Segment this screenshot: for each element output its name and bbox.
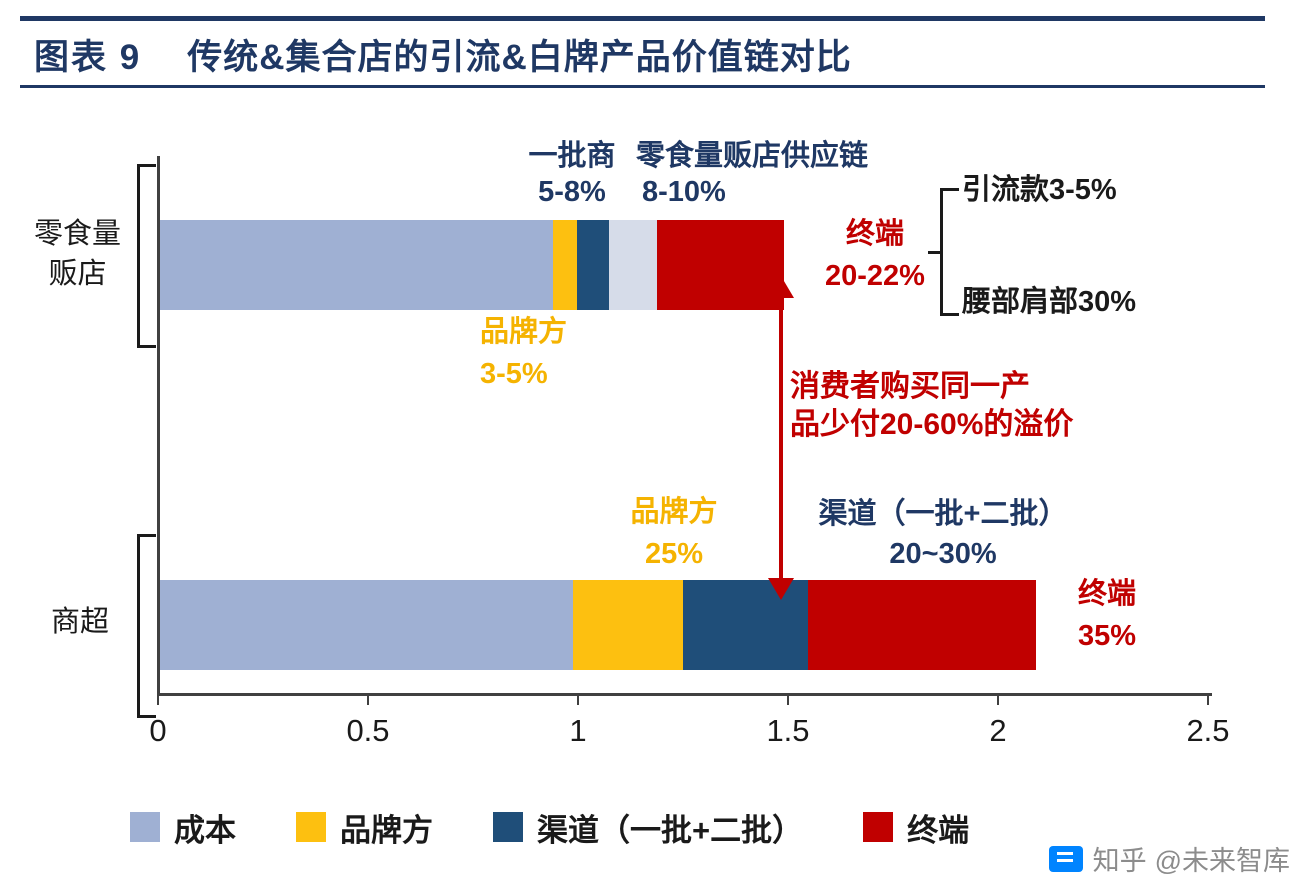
annotation-terminal-bottom-value: 35% bbox=[1052, 618, 1162, 654]
bar-bottom-segment-cost bbox=[157, 580, 573, 670]
annotation-traffic-sku: 引流款3-5% bbox=[962, 172, 1117, 208]
premium-arrow-line bbox=[779, 292, 783, 584]
legend-item-cost[interactable]: 成本 bbox=[130, 805, 236, 850]
x-tick-label-1: 1 bbox=[538, 713, 618, 749]
x-tick-label-0: 0 bbox=[118, 713, 198, 749]
header-rule-bottom bbox=[20, 85, 1265, 88]
annotation-channel-bottom: 渠道（一批+二批） 20~30% bbox=[798, 496, 1088, 573]
legend-label-brand: 品牌方 bbox=[340, 805, 433, 850]
annotation-terminal-top-label: 终端 bbox=[810, 216, 940, 252]
x-tick-0 bbox=[157, 693, 159, 705]
x-tick-label-2: 2 bbox=[958, 713, 1038, 749]
annotation-supply-chain-label: 零食量贩店供应链 bbox=[636, 138, 956, 174]
x-tick-label-15: 1.5 bbox=[748, 713, 828, 749]
figure-number: 图表 9 bbox=[34, 29, 141, 80]
watermark: 知乎 @未来智库 bbox=[1049, 839, 1290, 878]
bar-top-segment-wholesaler bbox=[577, 220, 609, 310]
bar-top-segment-supply-chain bbox=[609, 220, 657, 310]
legend-swatch-brand bbox=[296, 812, 326, 842]
bar-bottom-segment-brand bbox=[573, 580, 683, 670]
bar-top-segment-brand bbox=[553, 220, 577, 310]
annotation-premium-note: 消费者购买同一产 品少付20-60%的溢价 bbox=[790, 368, 1150, 443]
x-tick-label-05: 0.5 bbox=[328, 713, 408, 749]
x-tick-25 bbox=[1207, 693, 1209, 705]
legend-item-terminal[interactable]: 终端 bbox=[863, 805, 969, 850]
annotation-terminal-top-value: 20-22% bbox=[810, 258, 940, 294]
header-title-row: 图表 9 传统&集合店的引流&白牌产品价值链对比 bbox=[20, 24, 852, 84]
legend-label-cost: 成本 bbox=[174, 805, 236, 850]
annotation-wholesaler: 一批商 5-8% bbox=[512, 138, 632, 211]
category-label-top-line1: 零食量 bbox=[20, 214, 135, 254]
header-rule-top bbox=[20, 16, 1265, 21]
legend-swatch-channel bbox=[493, 812, 523, 842]
x-tick-label-25: 2.5 bbox=[1168, 713, 1248, 749]
bar-bottom-segment-terminal bbox=[808, 580, 1036, 670]
premium-arrow-head-up bbox=[768, 276, 794, 298]
x-tick-05 bbox=[367, 693, 369, 705]
chart-legend: 成本 品牌方 渠道（一批+二批） 终端 bbox=[130, 806, 1029, 848]
bar-top-segment-terminal bbox=[657, 220, 784, 310]
annotation-supply-chain-value: 8-10% bbox=[642, 174, 956, 210]
category-label-bottom: 商超 bbox=[30, 602, 130, 642]
legend-label-terminal: 终端 bbox=[907, 805, 969, 850]
legend-label-channel: 渠道（一批+二批） bbox=[537, 805, 803, 850]
category-label-top-line2: 贩店 bbox=[20, 254, 135, 294]
annotation-brand-top-label: 品牌方 bbox=[480, 314, 640, 350]
chart-plot-area: 0 0.5 1 1.5 2 2.5 零食量 贩店 商超 一批商 5-8% 零食量… bbox=[0, 96, 1308, 888]
annotation-premium-note-line2: 品少付20-60%的溢价 bbox=[790, 406, 1150, 444]
category-label-top: 零食量 贩店 bbox=[20, 214, 135, 294]
watermark-account: @未来智库 bbox=[1155, 839, 1290, 878]
x-axis-line bbox=[157, 693, 1212, 696]
figure-header: 图表 9 传统&集合店的引流&白牌产品价值链对比 bbox=[20, 16, 1265, 90]
annotation-brand-bottom: 品牌方 25% bbox=[614, 494, 734, 573]
x-tick-15 bbox=[787, 693, 789, 705]
annotation-mid-shoulder-sku: 腰部肩部30% bbox=[962, 284, 1136, 320]
annotation-brand-bottom-label: 品牌方 bbox=[614, 494, 734, 530]
bar-top-segment-cost bbox=[157, 220, 553, 310]
annotation-premium-note-line1: 消费者购买同一产 bbox=[790, 368, 1150, 406]
annotation-brand-top: 品牌方 3-5% bbox=[480, 314, 640, 393]
legend-swatch-terminal bbox=[863, 812, 893, 842]
premium-arrow-head-down bbox=[768, 578, 794, 600]
annotation-wholesaler-label: 一批商 bbox=[512, 138, 632, 174]
annotation-terminal-bottom: 终端 35% bbox=[1052, 576, 1162, 655]
legend-item-channel[interactable]: 渠道（一批+二批） bbox=[493, 805, 803, 850]
annotation-brand-bottom-value: 25% bbox=[614, 536, 734, 572]
annotation-channel-bottom-label: 渠道（一批+二批） bbox=[798, 496, 1088, 532]
zhihu-logo-icon bbox=[1049, 846, 1083, 872]
annotation-supply-chain: 零食量贩店供应链 8-10% bbox=[636, 138, 956, 211]
annotation-wholesaler-value: 5-8% bbox=[512, 174, 632, 210]
x-tick-1 bbox=[577, 693, 579, 705]
x-tick-2 bbox=[997, 693, 999, 705]
sku-bracket-pointer bbox=[928, 251, 942, 254]
legend-swatch-cost bbox=[130, 812, 160, 842]
annotation-terminal-top: 终端 20-22% bbox=[810, 216, 940, 295]
page-title: 传统&集合店的引流&白牌产品价值链对比 bbox=[187, 29, 852, 80]
watermark-platform: 知乎 bbox=[1093, 839, 1147, 878]
annotation-brand-top-value: 3-5% bbox=[480, 356, 640, 392]
category-bracket-top bbox=[137, 164, 140, 348]
category-bracket-bottom bbox=[137, 534, 140, 718]
legend-item-brand[interactable]: 品牌方 bbox=[296, 805, 433, 850]
y-axis-line bbox=[157, 156, 160, 696]
annotation-terminal-bottom-label: 终端 bbox=[1052, 576, 1162, 612]
annotation-channel-bottom-value: 20~30% bbox=[798, 536, 1088, 572]
